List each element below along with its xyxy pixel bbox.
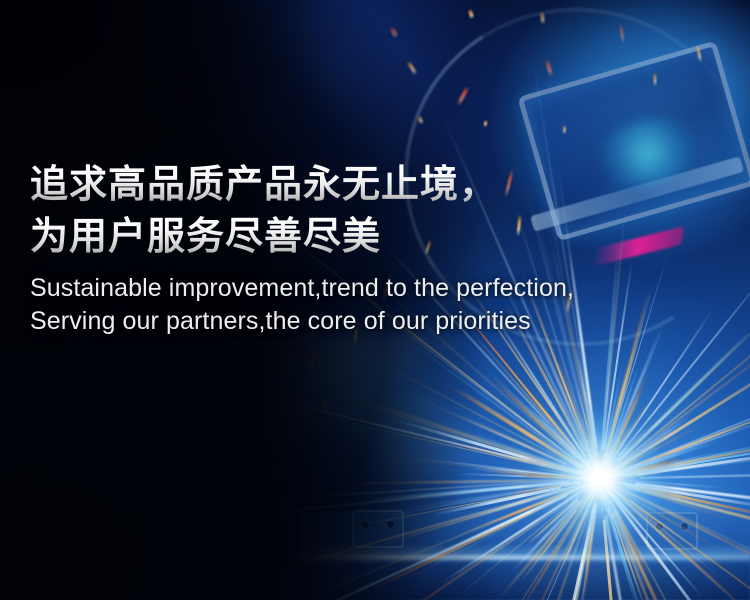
- stray-ember: [389, 26, 399, 39]
- stray-ember: [653, 72, 656, 86]
- slogan-spacer: [30, 262, 720, 272]
- headline-line-2-wrap: 为用户服务尽善尽美 为用户服务尽善尽美: [30, 210, 720, 262]
- headline-line-2: 为用户服务尽善尽美: [30, 210, 720, 262]
- stray-ember: [563, 125, 566, 134]
- stray-ember: [251, 410, 255, 428]
- hero-banner: 追求高品质产品永无止境， 追求高品质产品永无止境， 为用户服务尽善尽美 为用户服…: [0, 0, 750, 600]
- weld-arc-core: [525, 403, 675, 553]
- subline-2: Serving our partners,the core of our pri…: [30, 305, 720, 338]
- subline-1: Sustainable improvement,trend to the per…: [30, 272, 720, 305]
- slogan-text-block: 追求高品质产品永无止境， 追求高品质产品永无止境， 为用户服务尽善尽美 为用户服…: [30, 158, 720, 338]
- stray-ember: [323, 398, 327, 412]
- stray-ember: [309, 346, 316, 372]
- headline-line-1-wrap: 追求高品质产品永无止境， 追求高品质产品永无止境，: [30, 158, 720, 210]
- stray-ember: [272, 465, 275, 477]
- stray-ember: [468, 9, 475, 20]
- stray-ember: [406, 60, 418, 76]
- headline-line-1: 追求高品质产品永无止境，: [30, 158, 720, 210]
